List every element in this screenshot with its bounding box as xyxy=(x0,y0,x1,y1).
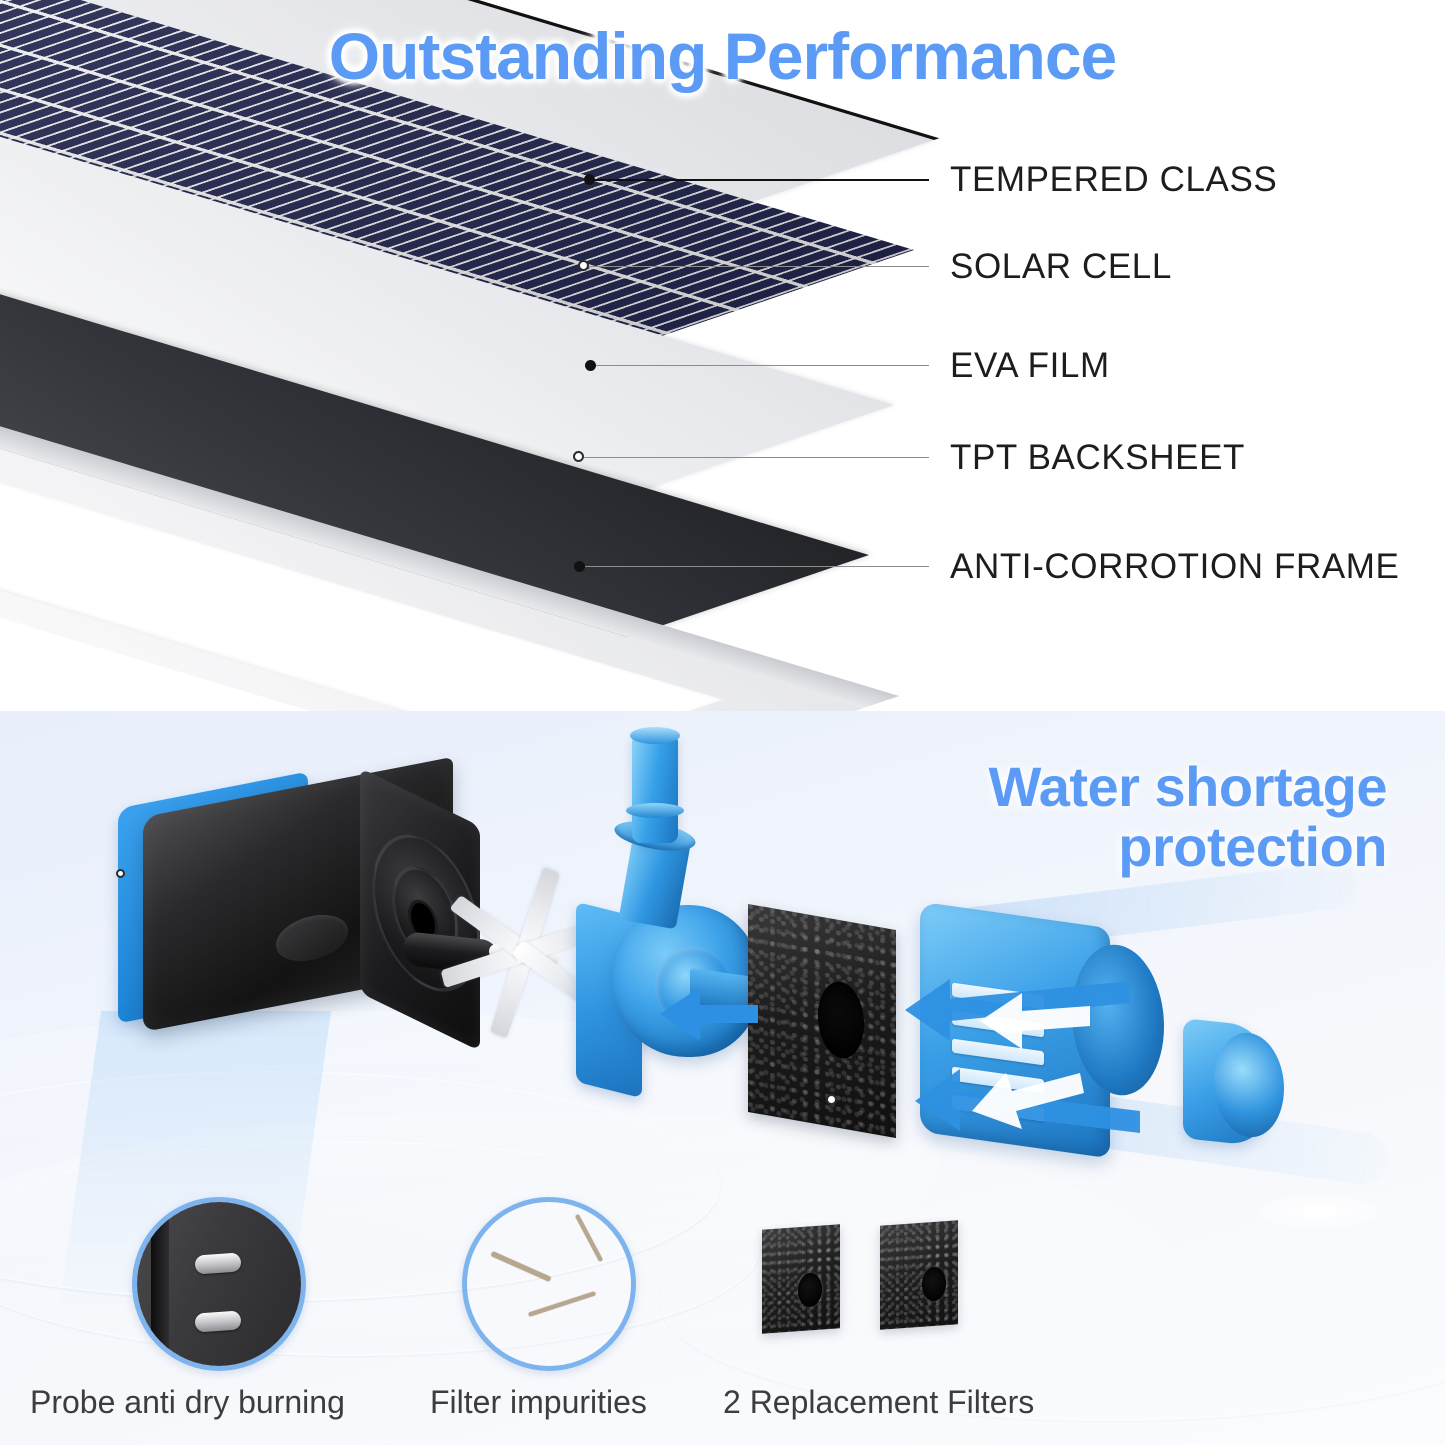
hose-nozzle xyxy=(632,733,678,843)
feature-thumb-impurities xyxy=(462,1197,636,1371)
layer-label-tempered-glass: TEMPERED CLASS xyxy=(950,160,1277,200)
probe-pin-upper xyxy=(194,1252,241,1274)
probe-photo-edge xyxy=(151,1202,169,1366)
feature-thumb-probe xyxy=(132,1197,306,1371)
leader-dot-solar-cell xyxy=(578,260,589,271)
leader-line-tempered-glass xyxy=(594,179,929,181)
feature-caption-replacement-filters: 2 Replacement Filters xyxy=(723,1384,1034,1421)
leader-line-solar-cell xyxy=(589,266,929,267)
solar-panel-exploded-section: Outstanding Performance TEMPERED CLASS S… xyxy=(0,0,1445,711)
leader-dot-anti-corrosion-frame xyxy=(574,561,585,572)
page-title: Outstanding Performance xyxy=(0,18,1445,94)
layer-label-anti-corrosion-frame: ANTI-CORROTION FRAME xyxy=(950,547,1399,587)
leader-dot-tpt-backsheet xyxy=(573,451,584,462)
leader-line-anti-corrosion-frame xyxy=(584,566,929,567)
replacement-filter-2 xyxy=(880,1220,958,1329)
water-pump-exploded-section: Water shortage protection xyxy=(0,711,1445,1445)
water-splash xyxy=(1258,1195,1378,1229)
section-title-line2: protection xyxy=(1118,815,1387,878)
leader-dot-eva-film xyxy=(585,360,596,371)
probe-pin-lower xyxy=(194,1310,241,1332)
impurities-photo xyxy=(467,1202,631,1366)
layer-label-eva-film: EVA FILM xyxy=(950,346,1110,386)
hose-nozzle-opening xyxy=(630,727,680,744)
section-title-line1: Water shortage xyxy=(988,755,1387,818)
leader-dot-tempered-glass xyxy=(584,174,595,185)
feature-caption-impurities: Filter impurities xyxy=(430,1384,647,1421)
hose-nozzle-rib xyxy=(626,803,684,818)
leader-line-tpt-backsheet xyxy=(584,457,929,458)
feature-caption-probe: Probe anti dry burning xyxy=(30,1384,345,1421)
layer-label-solar-cell: SOLAR CELL xyxy=(950,247,1172,287)
layer-label-tpt-backsheet: TPT BACKSHEET xyxy=(950,438,1245,478)
leader-line-eva-film xyxy=(595,365,929,366)
section-title: Water shortage protection xyxy=(827,757,1387,878)
sponge-callout-dot xyxy=(826,1094,837,1105)
motor-mount-dot xyxy=(116,869,125,878)
